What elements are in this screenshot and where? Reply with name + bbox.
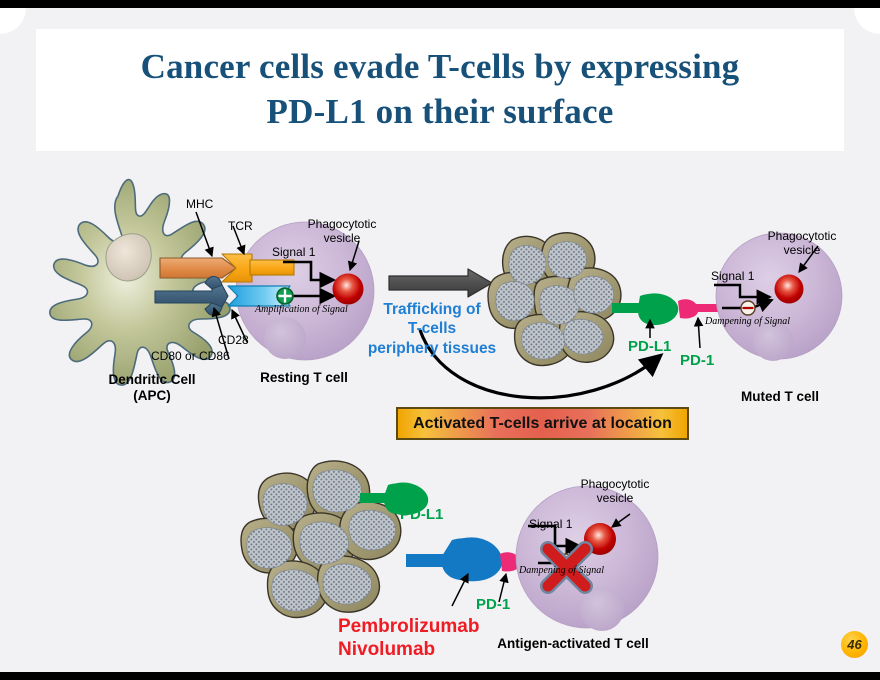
phagocytotic-vesicle-label-bottom: Phagocytotic vesicle (581, 478, 650, 506)
trafficking-label: Trafficking of T-cells periphery tissues (368, 300, 496, 358)
drug-name-2: Nivolumab (338, 639, 479, 662)
vesicle-label-right-line1: Phagocytotic (768, 230, 837, 244)
resting-t-cell-label: Resting T cell (260, 370, 348, 386)
antigen-activated-t-cell-label: Antigen-activated T cell (497, 636, 649, 652)
signal-1-label-right: Signal 1 (711, 270, 754, 284)
slide-canvas: Cancer cells evade T-cells by expressing… (0, 8, 880, 672)
cd28-label: CD28 (218, 334, 249, 348)
tumor-cell-cluster-bottom (241, 461, 401, 618)
cd80-cd86-label: CD80 or CD86 (151, 350, 230, 364)
vesicle-label-left-line1: Phagocytotic (308, 218, 377, 232)
dendritic-cell-label-line2: (APC) (108, 388, 195, 404)
mhc-label: MHC (186, 198, 213, 212)
vesicle-label-right-line2: vesicle (768, 244, 837, 258)
diagram-stage: MHC TCR CD28 CD80 or CD86 Dendritic Cell… (0, 8, 880, 672)
signal-1-label-left: Signal 1 (272, 246, 315, 260)
antigen-activated-t-cell (516, 486, 658, 631)
vesicle-label-bottom-line2: vesicle (581, 492, 650, 506)
trafficking-line-3: periphery tissues (368, 339, 496, 358)
muted-t-cell-label: Muted T cell (741, 389, 819, 405)
banner-text: Activated T-cells arrive at location (413, 415, 672, 433)
dendritic-cell-label: Dendritic Cell (APC) (108, 372, 195, 403)
signal-1-label-bottom: Signal 1 (529, 518, 572, 532)
pd-1-label-bottom: PD-1 (476, 596, 510, 613)
pd-l1-label-bottom: PD-L1 (400, 506, 443, 523)
antibody-blue (406, 537, 502, 581)
trafficking-line-1: Trafficking of (368, 300, 496, 319)
dampening-label-bottom: Dampening of Signal (519, 565, 604, 577)
mhc-receptor (160, 258, 236, 278)
trafficking-line-2: T-cells (368, 319, 496, 338)
phagocytotic-vesicle-left (333, 274, 364, 305)
drug-name-1: Pembrolizumab (338, 616, 479, 639)
tcr-label: TCR (228, 220, 253, 234)
slide-number-badge: 46 (841, 631, 868, 658)
drug-names-label: Pembrolizumab Nivolumab (338, 616, 479, 662)
pd-l1-label-top: PD-L1 (628, 338, 671, 355)
dendritic-cell-label-line1: Dendritic Cell (108, 372, 195, 388)
tumor-cell-cluster-top (488, 233, 621, 366)
phagocytotic-vesicle-label-left: Phagocytotic vesicle (308, 218, 377, 246)
dampening-label-right: Dampening of Signal (705, 316, 790, 328)
amplification-plus-icon (277, 288, 293, 304)
activated-tcells-banner: Activated T-cells arrive at location (396, 407, 689, 440)
pd-1-label-top: PD-1 (680, 352, 714, 369)
trafficking-arrow (389, 269, 492, 297)
pd-l1-receptor-top (612, 293, 678, 325)
vesicle-label-bottom-line1: Phagocytotic (581, 478, 650, 492)
vesicle-label-left-line2: vesicle (308, 232, 377, 246)
phagocytotic-vesicle-label-right: Phagocytotic vesicle (768, 230, 837, 258)
amplification-label: Amplification of Signal (255, 304, 348, 316)
dampening-minus-icon (741, 301, 755, 315)
